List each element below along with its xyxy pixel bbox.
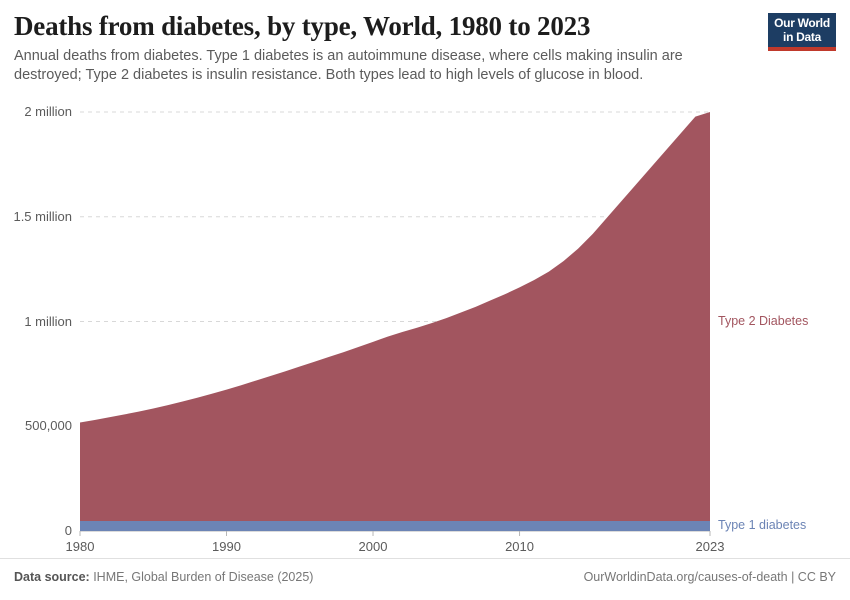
x-axis-tick-label: 1980 xyxy=(66,539,95,554)
logo-line-1: Our World xyxy=(773,17,831,31)
chart-plot-area[interactable]: 0500,0001 million1.5 million2 million198… xyxy=(0,92,850,555)
y-axis-tick-label: 500,000 xyxy=(25,418,72,433)
chart-footer: Data source: IHME, Global Burden of Dise… xyxy=(0,558,850,600)
series-label-type-2-diabetes[interactable]: Type 2 Diabetes xyxy=(718,314,808,328)
x-axis-tick-label: 2010 xyxy=(505,539,534,554)
data-source-label: Data source: xyxy=(14,570,90,584)
y-axis-tick-label: 1.5 million xyxy=(13,209,72,224)
series-label-type-1-diabetes[interactable]: Type 1 diabetes xyxy=(718,518,806,532)
y-axis-tick-label: 1 million xyxy=(24,314,72,329)
our-world-in-data-logo[interactable]: Our World in Data xyxy=(768,13,836,51)
x-axis-tick-label: 2000 xyxy=(359,539,388,554)
data-source-value: IHME, Global Burden of Disease (2025) xyxy=(90,570,314,584)
y-axis-tick-label: 0 xyxy=(65,523,72,538)
page-title: Deaths from diabetes, by type, World, 19… xyxy=(14,10,836,42)
data-source-note: Data source: IHME, Global Burden of Dise… xyxy=(14,570,313,584)
attribution-link[interactable]: OurWorldinData.org/causes-of-death | CC … xyxy=(584,570,836,584)
logo-line-2: in Data xyxy=(773,31,831,45)
x-axis-tick-label: 2023 xyxy=(696,539,725,554)
area-series-type-1-diabetes xyxy=(80,521,710,531)
chart-header: Deaths from diabetes, by type, World, 19… xyxy=(0,0,850,92)
x-axis-tick-label: 1990 xyxy=(212,539,241,554)
area-series-type-2-diabetes xyxy=(80,112,710,521)
chart-subtitle: Annual deaths from diabetes. Type 1 diab… xyxy=(14,47,704,85)
y-axis-tick-label: 2 million xyxy=(24,104,72,119)
